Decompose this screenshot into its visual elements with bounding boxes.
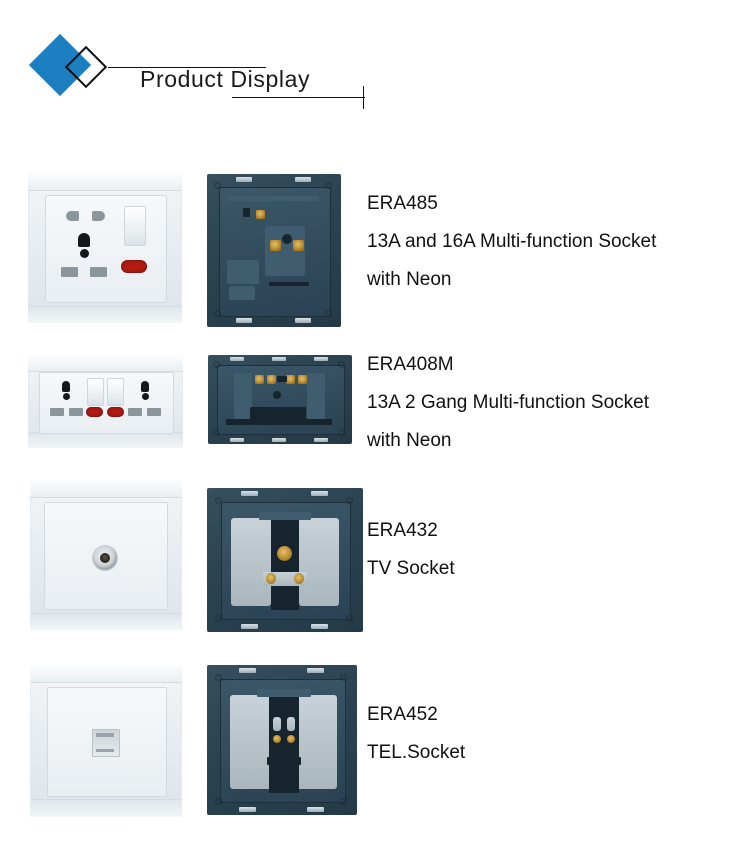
product-back-image (208, 355, 352, 444)
product-text-block: ERA408M 13A 2 Gang Multi-function Socket… (367, 354, 649, 468)
product-front-image (28, 173, 182, 323)
product-model: ERA485 (367, 193, 656, 215)
product-back-image (207, 665, 357, 815)
neon-indicator (86, 407, 103, 417)
product-text-block: ERA452 TEL.Socket (367, 704, 465, 780)
product-description-line: TV Socket (367, 558, 455, 580)
product-back-image (207, 488, 363, 632)
page-title: Product Display (140, 66, 310, 93)
product-row: ERA452 TEL.Socket (0, 662, 750, 822)
header-rule-tick (363, 86, 364, 109)
telephone-jack-notch (96, 749, 114, 752)
product-row: ERA432 TV Socket (0, 478, 750, 638)
product-model: ERA408M (367, 354, 649, 376)
product-description-line: TEL.Socket (367, 742, 465, 764)
product-front-image (30, 480, 182, 630)
neon-indicator (107, 407, 124, 417)
product-text-block: ERA485 13A and 16A Multi-function Socket… (367, 193, 656, 307)
product-back-image (207, 174, 341, 327)
product-description-line: 13A and 16A Multi-function Socket (367, 231, 656, 253)
product-row: ERA485 13A and 16A Multi-function Socket… (0, 170, 750, 335)
product-description-line: with Neon (367, 269, 656, 291)
product-description-line: 13A 2 Gang Multi-function Socket (367, 392, 649, 414)
socket-rocker-switch (124, 206, 146, 246)
socket-rocker-switch (107, 378, 124, 406)
product-model: ERA432 (367, 520, 455, 542)
coaxial-core (100, 553, 110, 563)
product-front-image (30, 665, 182, 817)
page-header: Product Display (0, 0, 750, 150)
product-description-line: with Neon (367, 430, 649, 452)
telephone-jack-notch (96, 733, 114, 737)
product-row: ERA408M 13A 2 Gang Multi-function Socket… (0, 352, 750, 462)
product-text-block: ERA432 TV Socket (367, 520, 455, 596)
neon-indicator (121, 260, 147, 273)
product-model: ERA452 (367, 704, 465, 726)
header-rule-bottom (232, 97, 365, 98)
socket-rocker-switch (87, 378, 104, 406)
product-front-image (28, 356, 183, 448)
